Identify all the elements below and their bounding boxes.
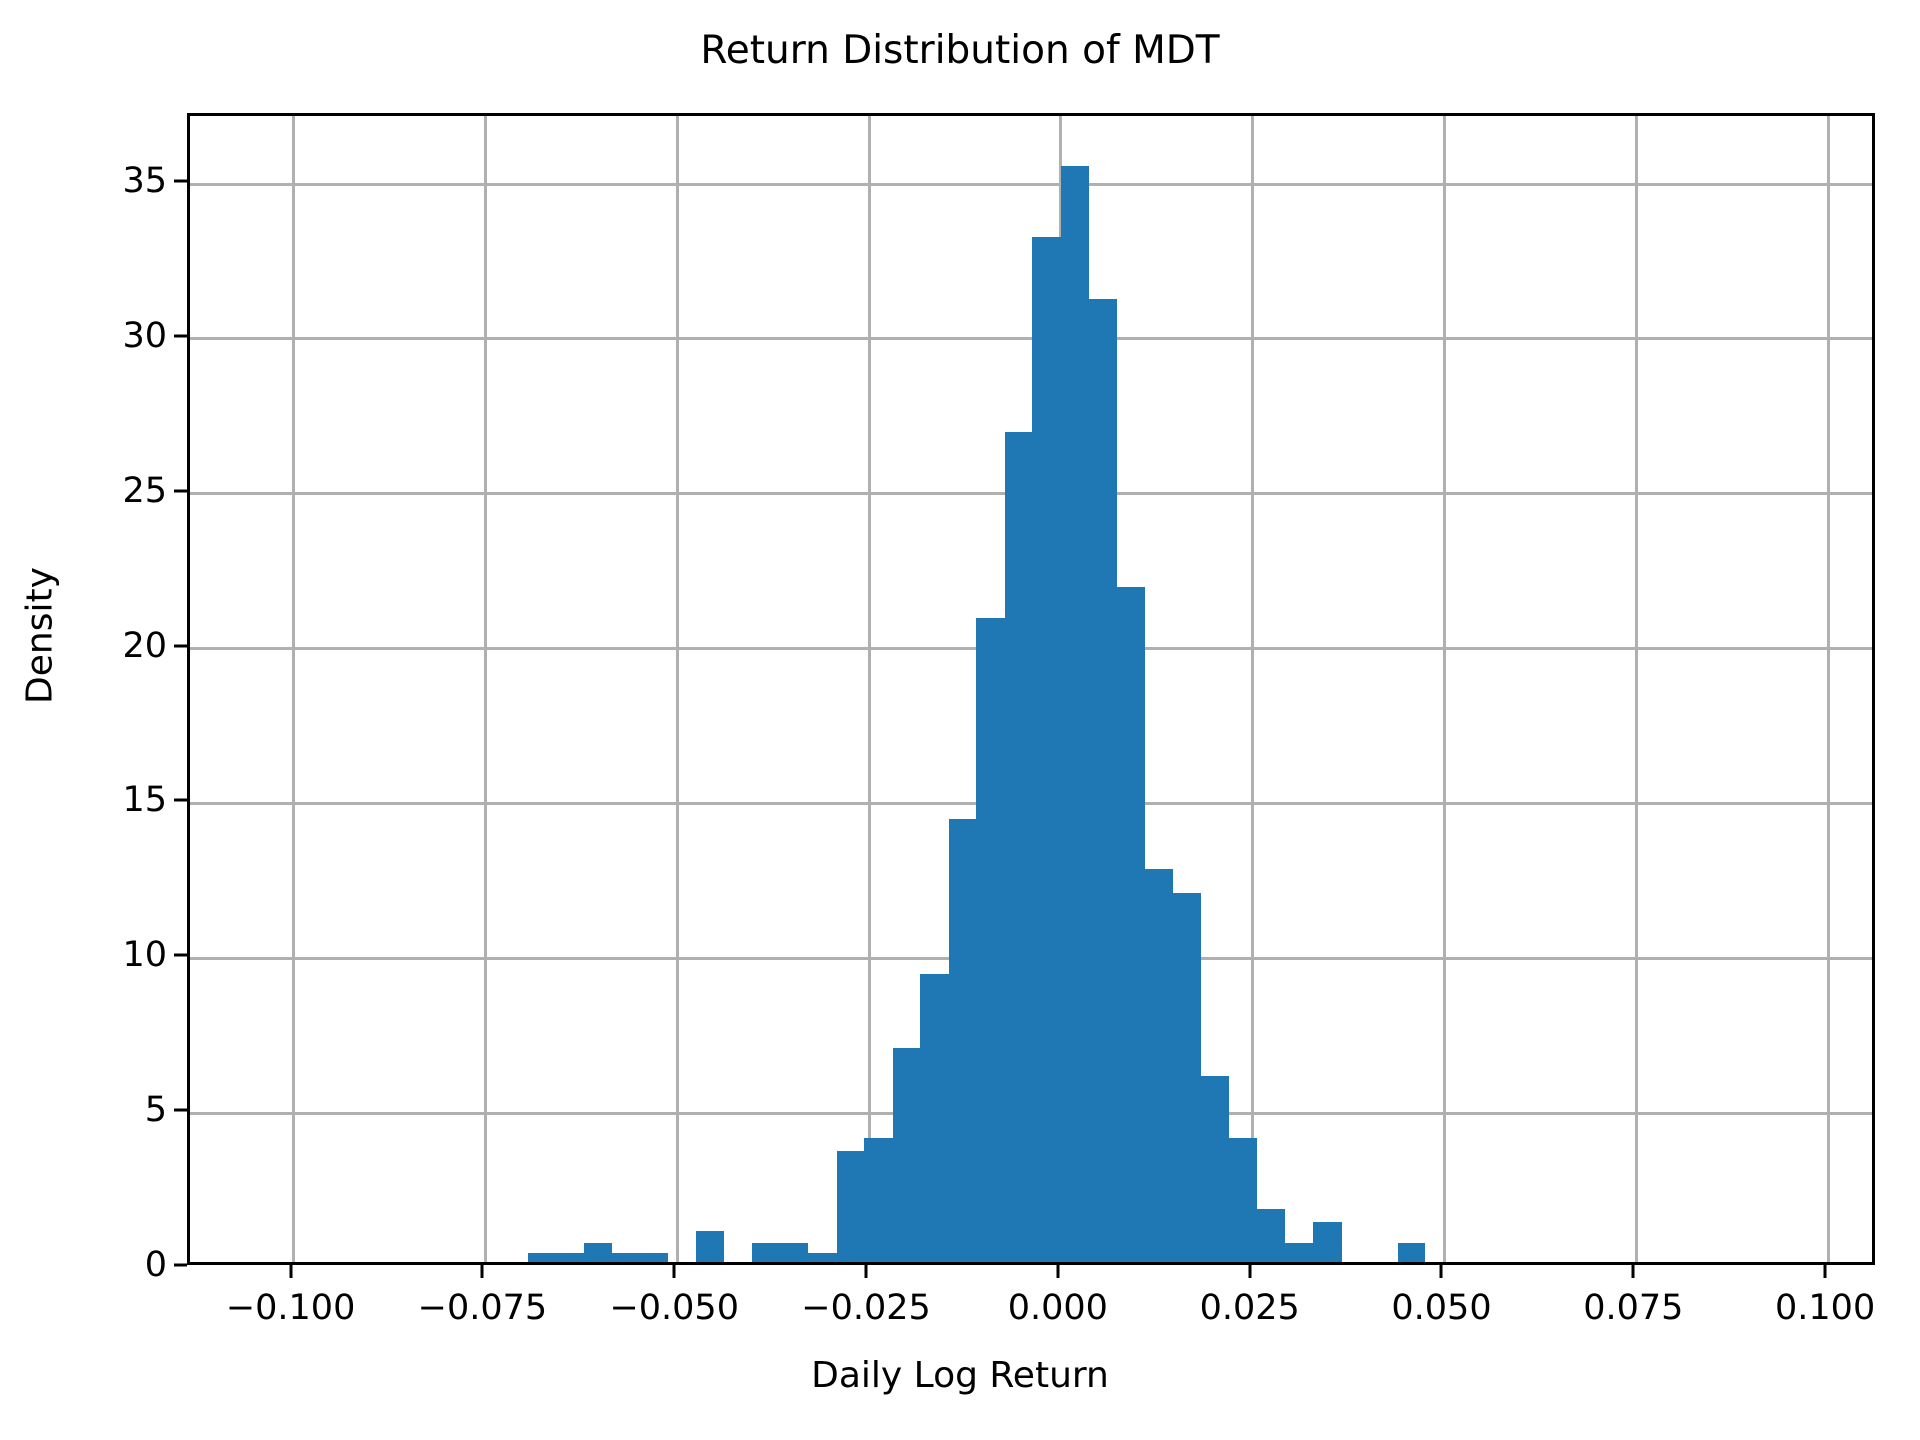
y-tick-mark: [174, 1109, 187, 1112]
gridline-vertical: [1827, 116, 1830, 1262]
y-tick-label: 0: [145, 1245, 167, 1285]
gridline-vertical: [1443, 116, 1446, 1262]
x-tick-mark: [1824, 1265, 1827, 1278]
y-tick-mark: [174, 180, 187, 183]
histogram-bar: [1313, 1222, 1341, 1262]
x-tick-mark: [1056, 1265, 1059, 1278]
x-tick-label: −0.075: [418, 1288, 548, 1328]
histogram-bar: [752, 1243, 780, 1262]
y-tick-mark: [174, 489, 187, 492]
chart-title: Return Distribution of MDT: [0, 28, 1920, 73]
x-tick-mark: [1248, 1265, 1251, 1278]
gridline-vertical: [868, 116, 871, 1262]
gridline-horizontal: [190, 183, 1872, 186]
histogram-bar: [1285, 1243, 1313, 1262]
plot-area: [187, 113, 1875, 1265]
x-tick-mark: [673, 1265, 676, 1278]
histogram-bar: [837, 1151, 865, 1262]
y-tick-mark: [174, 954, 187, 957]
y-tick-mark: [174, 334, 187, 337]
x-tick-mark: [865, 1265, 868, 1278]
y-tick-label: 15: [122, 780, 167, 820]
x-tick-label: 0.100: [1775, 1288, 1875, 1328]
histogram-bar: [1229, 1138, 1257, 1262]
y-tick-mark: [174, 1264, 187, 1267]
x-tick-mark: [481, 1265, 484, 1278]
histogram-bar: [528, 1253, 556, 1262]
histogram-bar: [1117, 587, 1145, 1262]
histogram-bar: [893, 1048, 921, 1262]
histogram-bar: [696, 1231, 724, 1262]
gridline-vertical: [292, 116, 295, 1262]
histogram-bar: [1061, 166, 1089, 1262]
gridline-vertical: [484, 116, 487, 1262]
y-tick-label: 30: [122, 316, 167, 356]
x-tick-label: −0.100: [226, 1288, 356, 1328]
x-tick-mark: [289, 1265, 292, 1278]
histogram-bar: [780, 1243, 808, 1262]
y-tick-mark: [174, 799, 187, 802]
gridline-horizontal: [190, 337, 1872, 340]
histogram-bar: [1201, 1076, 1229, 1262]
histogram-bar: [1398, 1243, 1426, 1262]
y-tick-label: 35: [122, 161, 167, 201]
histogram-bar: [920, 974, 948, 1262]
histogram-bar: [556, 1253, 584, 1262]
x-tick-label: −0.050: [609, 1288, 739, 1328]
x-tick-label: 0.000: [1008, 1288, 1108, 1328]
histogram-bar: [1089, 299, 1117, 1262]
y-tick-label: 10: [122, 935, 167, 975]
x-tick-label: 0.050: [1391, 1288, 1491, 1328]
gridline-vertical: [1635, 116, 1638, 1262]
x-tick-mark: [1440, 1265, 1443, 1278]
histogram-bar: [808, 1253, 836, 1262]
gridline-vertical: [1251, 116, 1254, 1262]
y-tick-label: 20: [122, 626, 167, 666]
x-tick-label: 0.075: [1583, 1288, 1683, 1328]
histogram-bar: [976, 618, 1004, 1262]
gridline-vertical: [676, 116, 679, 1262]
x-tick-label: 0.025: [1200, 1288, 1300, 1328]
histogram-bar: [1032, 237, 1060, 1262]
histogram-bar: [584, 1243, 612, 1262]
histogram-bar: [949, 819, 977, 1262]
y-axis-label: Density: [20, 286, 61, 986]
x-tick-label: −0.025: [801, 1288, 931, 1328]
histogram-bar: [864, 1138, 892, 1262]
y-tick-label: 25: [122, 471, 167, 511]
histogram-bar: [1173, 893, 1201, 1262]
y-tick-mark: [174, 644, 187, 647]
x-tick-mark: [1632, 1265, 1635, 1278]
histogram-bar: [1257, 1209, 1285, 1262]
histogram-bar: [1005, 432, 1033, 1262]
histogram-bar: [1145, 869, 1173, 1262]
x-axis-label: Daily Log Return: [0, 1355, 1920, 1396]
histogram-bar: [640, 1253, 668, 1262]
histogram-bar: [612, 1253, 640, 1262]
figure-canvas: Return Distribution of MDT 0510152025303…: [0, 0, 1920, 1440]
y-tick-label: 5: [145, 1090, 167, 1130]
